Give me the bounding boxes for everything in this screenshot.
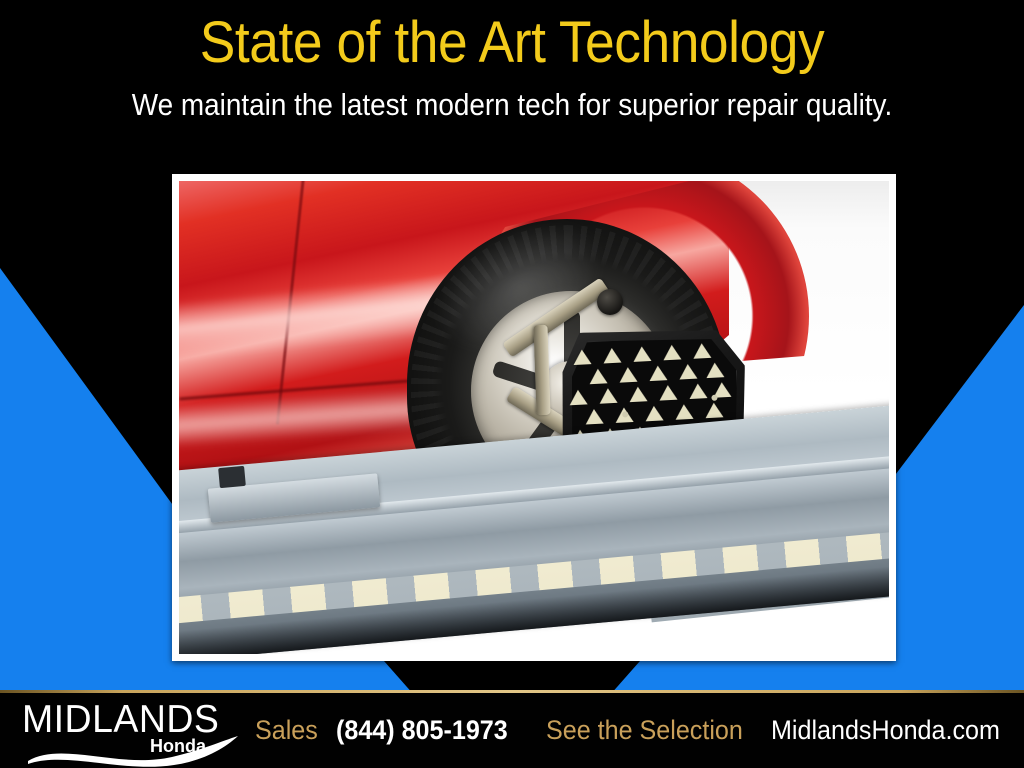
target-triangle <box>599 388 618 404</box>
sales-label: Sales <box>255 715 318 746</box>
target-triangle <box>659 385 678 401</box>
hero-photo-frame <box>172 174 896 661</box>
target-triangle <box>629 386 648 402</box>
advertisement-banner: State of the Art Technology We maintain … <box>0 0 1024 768</box>
target-triangle <box>649 365 668 381</box>
target-triangle <box>689 383 708 399</box>
sales-phone[interactable]: (844) 805-1973 <box>336 715 508 746</box>
headline-block: State of the Art Technology We maintain … <box>0 0 1024 160</box>
target-triangle <box>693 343 712 359</box>
clamp-knob <box>597 289 623 315</box>
target-triangle <box>585 409 604 425</box>
target-triangle <box>706 362 725 378</box>
target-triangle <box>633 346 652 362</box>
target-triangle <box>603 348 622 364</box>
hero-photo <box>179 181 889 654</box>
target-triangle <box>679 364 698 380</box>
rail-bracket-clip <box>218 466 246 488</box>
footer-contact-group: Sales (844) 805-1973 See the Selection M… <box>255 693 1015 768</box>
swoosh-icon <box>26 735 242 765</box>
target-triangle <box>619 367 638 383</box>
target-triangle <box>573 349 592 365</box>
page-subtitle: We maintain the latest modern tech for s… <box>51 86 973 124</box>
website-url[interactable]: MidlandsHonda.com <box>771 715 1000 746</box>
blue-band-notch <box>384 661 640 690</box>
brand-logo[interactable]: MIDLANDS Honda <box>22 695 242 765</box>
footer-bar: MIDLANDS Honda Sales (844) 805-1973 See … <box>0 693 1024 768</box>
target-triangle <box>705 402 724 418</box>
target-reference-dot <box>711 395 717 401</box>
target-triangle <box>645 405 664 421</box>
target-triangle <box>589 368 608 384</box>
target-triangle <box>663 344 682 360</box>
page-title: State of the Art Technology <box>41 8 983 78</box>
target-triangle <box>569 389 588 405</box>
target-triangle <box>675 404 694 420</box>
see-the-selection-label: See the Selection <box>546 715 743 746</box>
